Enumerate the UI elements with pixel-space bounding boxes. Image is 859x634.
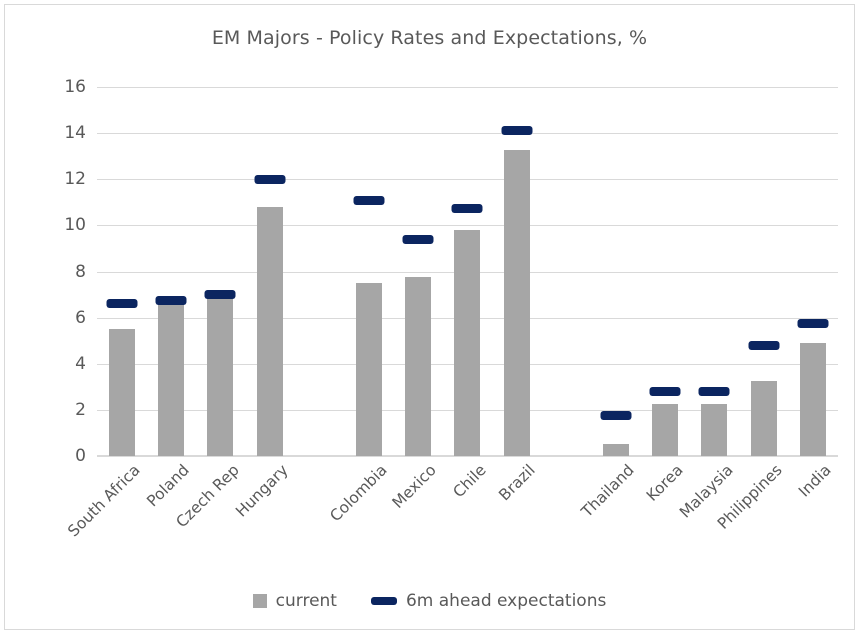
marker-expectation-india[interactable]: [798, 319, 829, 328]
marker-expectation-chile[interactable]: [452, 204, 483, 213]
marker-expectation-poland[interactable]: [156, 296, 187, 305]
line-swatch-icon: [371, 597, 397, 605]
chart-container: EM Majors - Policy Rates and Expectation…: [4, 4, 855, 630]
marker-expectation-malaysia[interactable]: [699, 387, 730, 396]
y-tick-label-2: 2: [75, 400, 86, 420]
category-slot-philippines: [739, 87, 788, 456]
category-slot-empty: [295, 87, 344, 456]
marker-expectation-czech-rep[interactable]: [205, 290, 236, 299]
marker-expectation-mexico[interactable]: [403, 235, 434, 244]
legend-label: 6m ahead expectations: [406, 591, 606, 611]
category-slot-poland: [146, 87, 195, 456]
legend-item-6m-ahead-expectations[interactable]: 6m ahead expectations: [371, 591, 606, 611]
category-slot-malaysia: [690, 87, 739, 456]
marker-expectation-thailand[interactable]: [600, 411, 631, 420]
marker-expectation-brazil[interactable]: [501, 126, 532, 135]
y-tick-label-12: 12: [64, 169, 86, 189]
bar-current-colombia[interactable]: [356, 283, 382, 456]
bar-current-south-africa[interactable]: [109, 329, 135, 456]
bar-current-thailand[interactable]: [603, 444, 629, 456]
marker-expectation-south-africa[interactable]: [106, 299, 137, 308]
category-slot-india: [789, 87, 838, 456]
y-tick-label-0: 0: [75, 446, 86, 466]
marker-expectation-hungary[interactable]: [254, 175, 285, 184]
marker-expectation-philippines[interactable]: [748, 341, 779, 350]
y-tick-label-14: 14: [64, 123, 86, 143]
chart-legend: current6m ahead expectations: [5, 591, 854, 611]
y-tick-label-4: 4: [75, 354, 86, 374]
category-slot-chile: [443, 87, 492, 456]
y-tick-label-10: 10: [64, 215, 86, 235]
bar-current-brazil[interactable]: [504, 150, 530, 456]
marker-expectation-colombia[interactable]: [353, 196, 384, 205]
plot-area: 0246810121416: [97, 87, 838, 456]
category-slot-south-africa: [97, 87, 146, 456]
chart-title: EM Majors - Policy Rates and Expectation…: [5, 27, 854, 49]
category-slot-mexico: [393, 87, 442, 456]
y-tick-label-8: 8: [75, 262, 86, 282]
category-slot-brazil: [492, 87, 541, 456]
category-slot-hungary: [245, 87, 294, 456]
legend-label: current: [276, 591, 337, 611]
category-slot-colombia: [344, 87, 393, 456]
category-slot-empty: [542, 87, 591, 456]
y-tick-label-16: 16: [64, 77, 86, 97]
legend-item-current[interactable]: current: [253, 591, 337, 611]
square-swatch-icon: [253, 594, 267, 608]
category-slot-thailand: [591, 87, 640, 456]
y-tick-label-6: 6: [75, 308, 86, 328]
bar-current-chile[interactable]: [454, 230, 480, 456]
category-slot-korea: [640, 87, 689, 456]
marker-expectation-korea[interactable]: [650, 387, 681, 396]
